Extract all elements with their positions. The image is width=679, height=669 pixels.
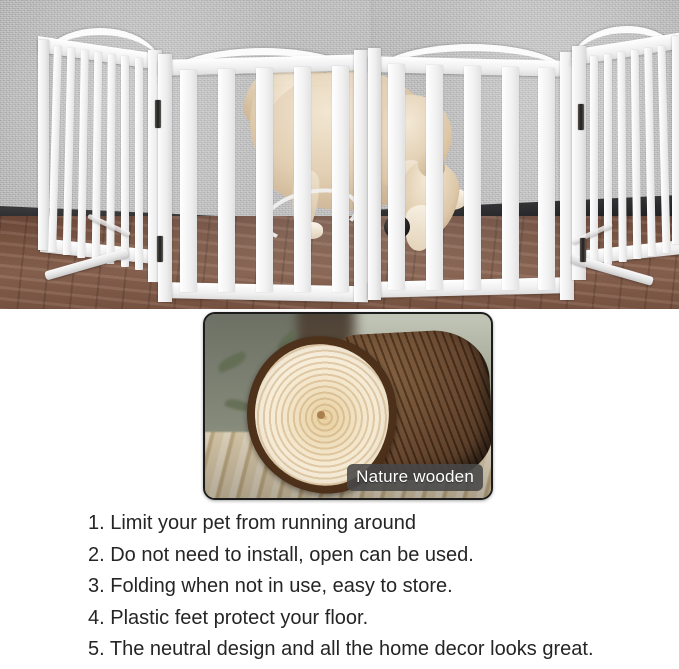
log-pith-center (317, 411, 325, 419)
slat (180, 70, 197, 292)
gate-panel-far-right (574, 26, 679, 281)
slat (617, 52, 626, 262)
slat (604, 54, 612, 265)
feature-item-2: 2. Do not need to install, open can be u… (88, 540, 668, 572)
nature-wood-inset-photo: Nature wooden (203, 312, 493, 500)
feature-item-3: 3. Folding when not in use, easy to stor… (88, 571, 668, 603)
feature-list: 1. Limit your pet from running around 2.… (88, 508, 668, 666)
slat (92, 52, 103, 261)
gate-panel-far-left (38, 28, 160, 283)
slat (106, 54, 115, 264)
gate-panel-right-center (368, 48, 574, 303)
slat (48, 46, 62, 252)
feature-item-5: 5. The neutral design and all the home d… (88, 634, 668, 666)
slat (644, 48, 656, 256)
slat (294, 67, 311, 292)
slat (218, 69, 235, 292)
slat (256, 68, 273, 292)
slat (332, 66, 349, 292)
slat (388, 64, 405, 290)
slat (426, 65, 443, 290)
slat (63, 48, 76, 255)
slat (631, 50, 642, 259)
hinge-icon (580, 238, 586, 262)
nature-wooden-badge: Nature wooden (347, 464, 483, 491)
panel-right-stile-right (672, 36, 679, 244)
slat (77, 50, 89, 258)
hinge-icon (578, 104, 584, 130)
panel-left-stile-left-center (158, 54, 172, 302)
slat (135, 58, 143, 270)
slat (502, 67, 519, 290)
slat (538, 68, 555, 290)
panel-right-stile-left-center (354, 50, 368, 302)
feature-item-1: 1. Limit your pet from running around (88, 508, 668, 540)
panel-left-stile-right-center (368, 48, 381, 300)
slat (657, 46, 670, 253)
feature-item-4: 4. Plastic feet protect your floor. (88, 603, 668, 635)
main-product-photo (0, 0, 679, 309)
gate-panel-left-center (158, 50, 368, 305)
panel-left-stile-left (38, 40, 49, 250)
product-image-page: Nature wooden 1. Limit your pet from run… (0, 0, 679, 669)
slat (464, 66, 481, 290)
hinge-icon (155, 100, 161, 128)
hinge-icon (157, 236, 163, 262)
